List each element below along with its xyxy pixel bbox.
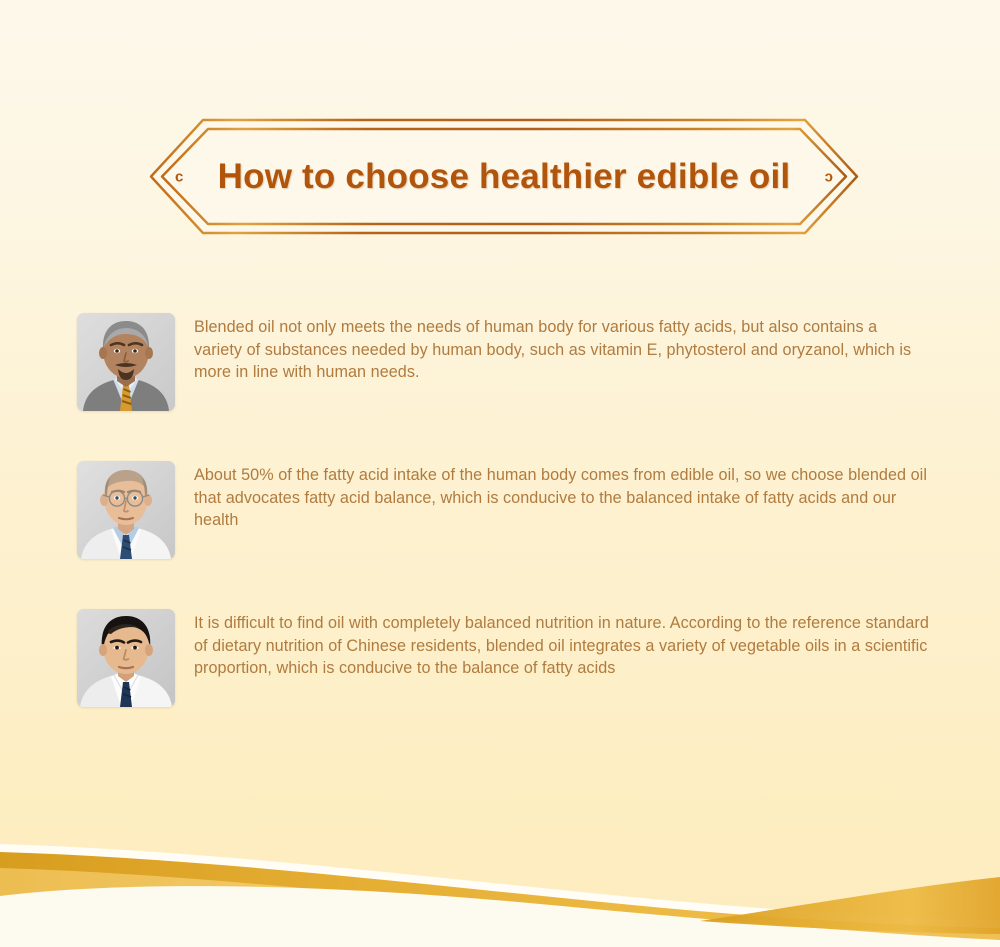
testimonial-text: Blended oil not only meets the needs of … (194, 313, 929, 384)
testimonial-text: About 50% of the fatty acid intake of th… (194, 461, 929, 532)
avatar-expert-2 (77, 461, 175, 559)
avatar-expert-1 (77, 313, 175, 411)
poster-canvas: c ɔ How to choose healthier edible oil (0, 0, 1000, 947)
testimonial-row: It is difficult to find oil with complet… (77, 609, 947, 707)
footer-wave-decoration (0, 822, 1000, 947)
avatar-expert-2-portrait-icon (77, 461, 175, 559)
testimonial-text: It is difficult to find oil with complet… (194, 609, 929, 680)
title-banner: c ɔ How to choose healthier edible oil (148, 117, 860, 236)
avatar-expert-1-portrait-icon (77, 313, 175, 411)
avatar-expert-3-portrait-icon (77, 609, 175, 707)
testimonial-row: Blended oil not only meets the needs of … (77, 313, 947, 411)
testimonial-row: About 50% of the fatty acid intake of th… (77, 461, 947, 559)
page-title: How to choose healthier edible oil (148, 117, 860, 236)
avatar-expert-3 (77, 609, 175, 707)
